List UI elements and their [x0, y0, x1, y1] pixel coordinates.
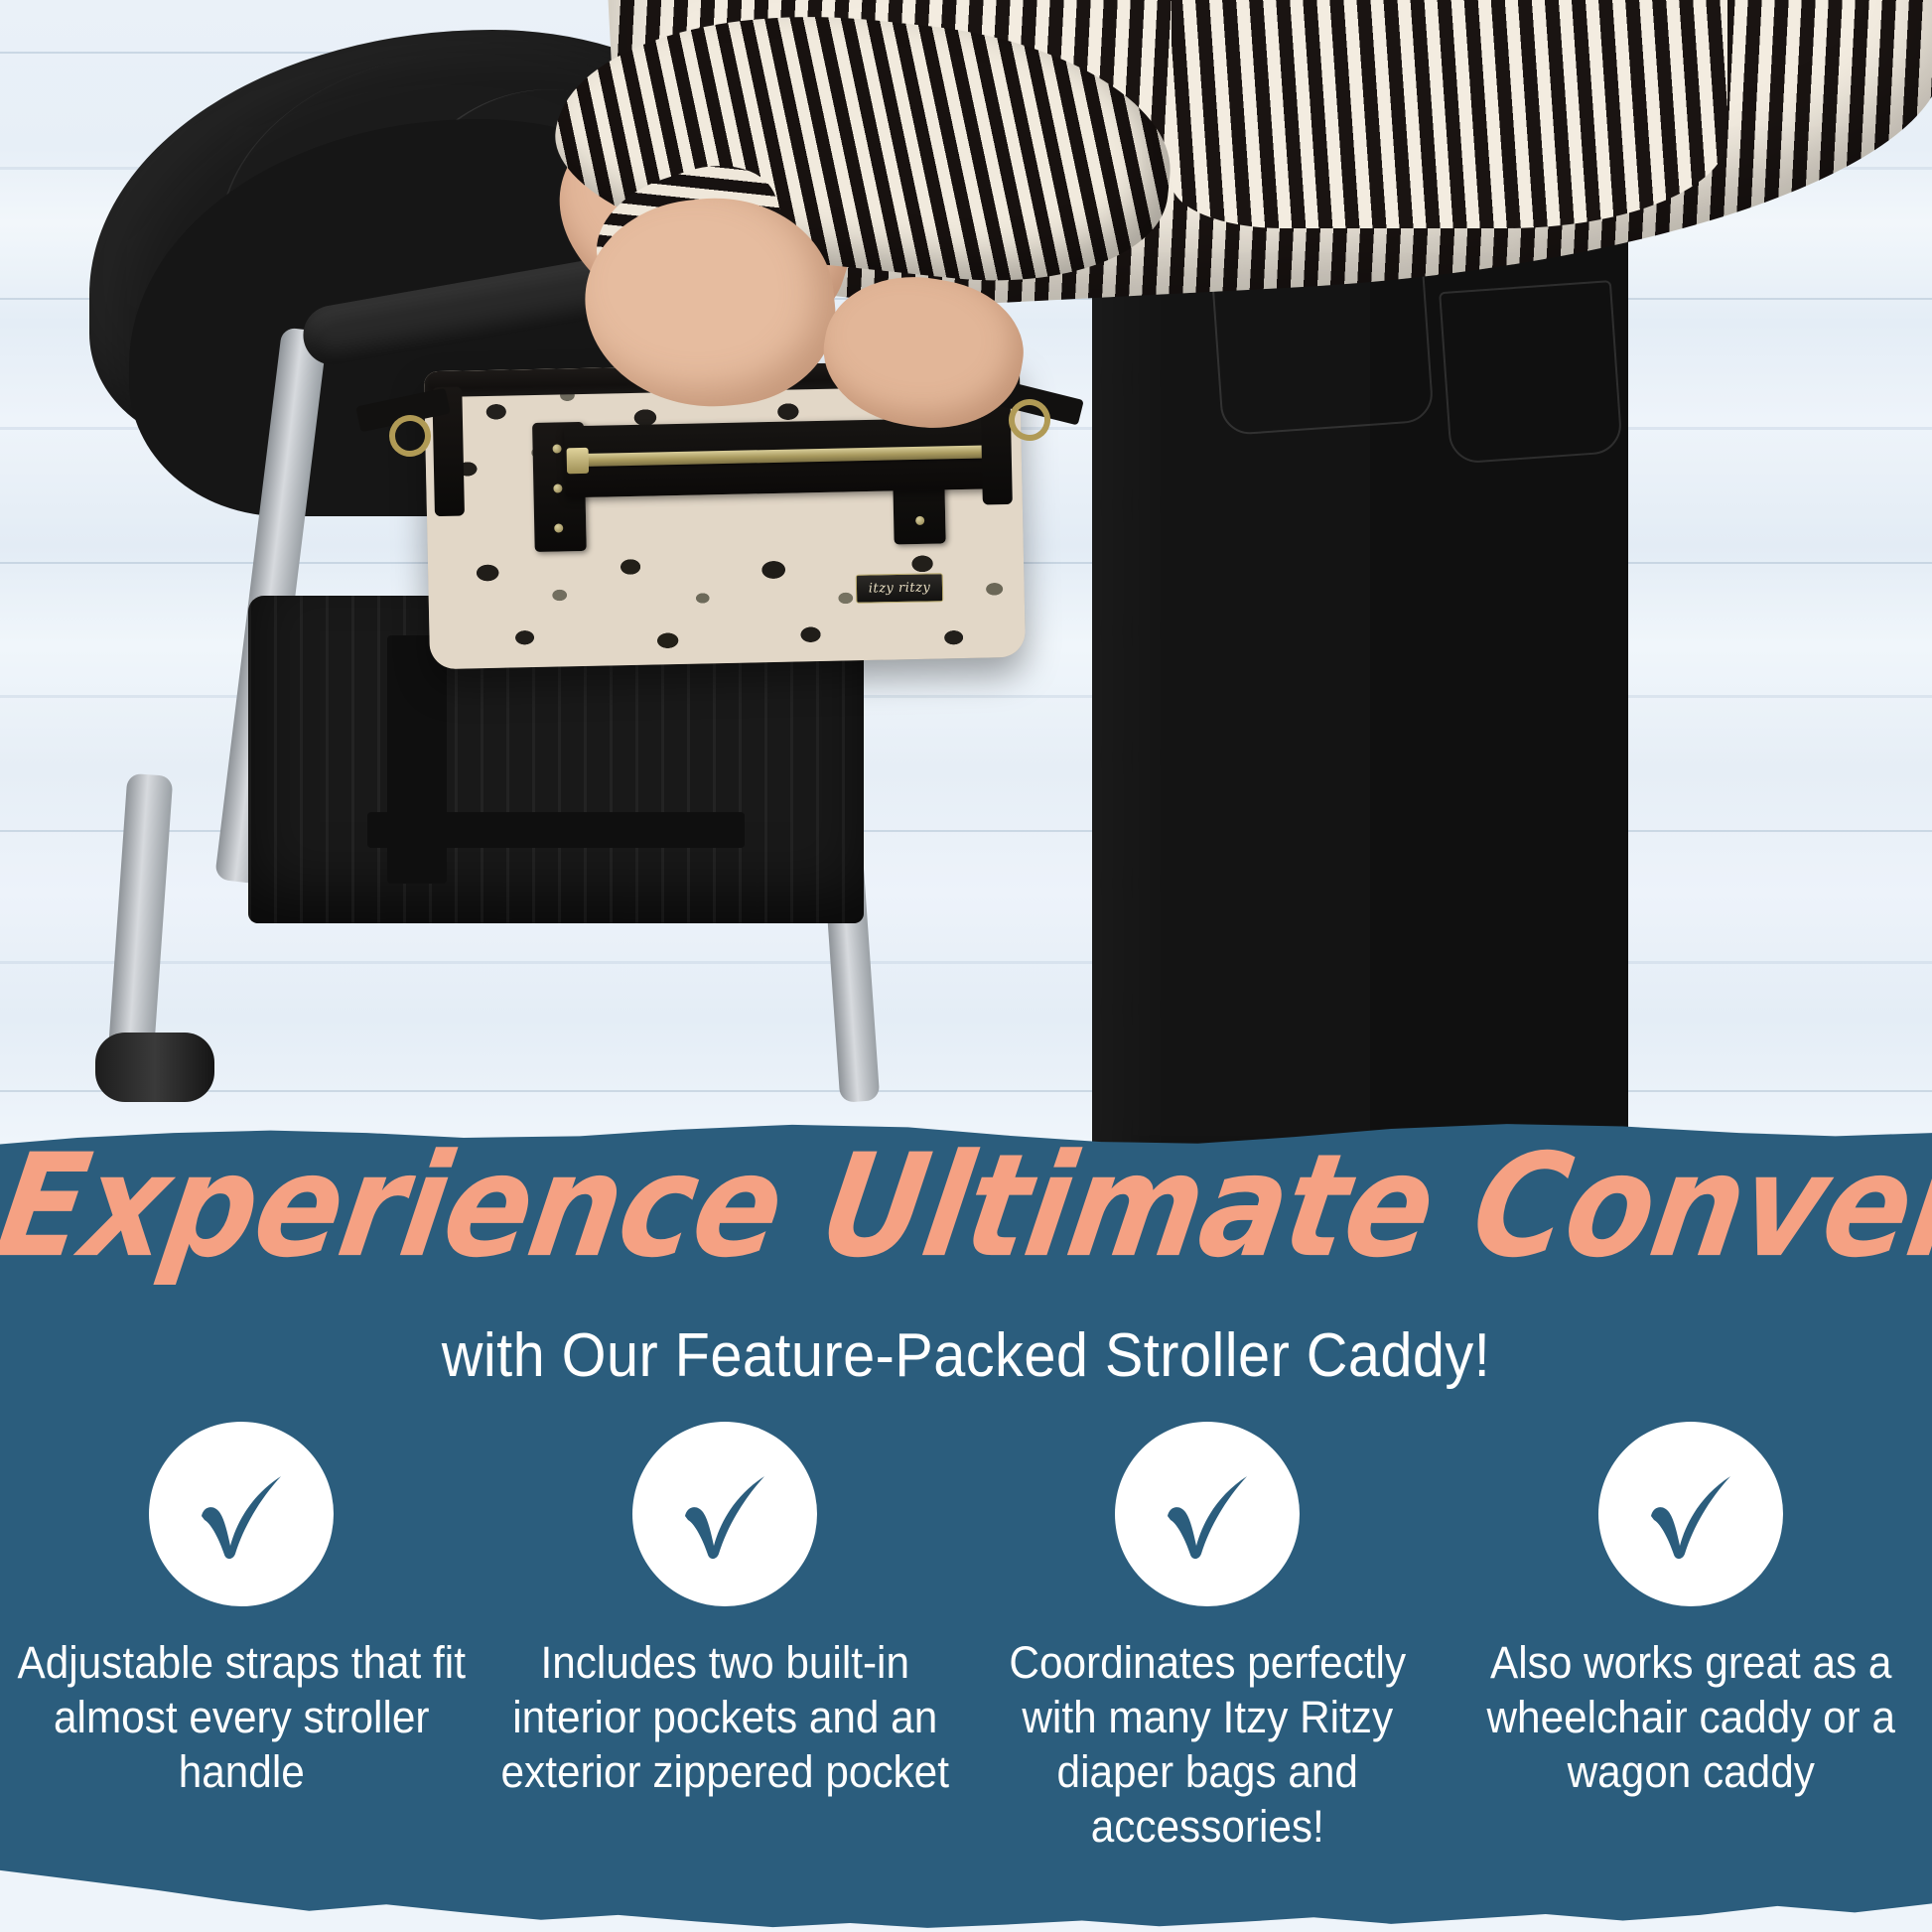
check-icon [1115, 1422, 1300, 1606]
wall-plank-seam [0, 961, 1932, 964]
stroller-wheel-mount [95, 1033, 214, 1102]
bag-rivet [915, 516, 924, 525]
brand-logo-plate: itzy ritzy [856, 573, 943, 604]
jeans-back-pocket [1439, 280, 1623, 465]
bag-rivet [553, 483, 562, 492]
stroller-frame-leg [107, 773, 174, 1073]
subheadline: with Our Feature-Packed Stroller Caddy! [68, 1320, 1864, 1391]
seat-strap [367, 812, 745, 848]
product-marketing-image: itzy ritzy Experience Ultimate Convenien… [0, 0, 1932, 1932]
headline: Experience Ultimate Convenience [0, 1136, 1932, 1278]
product-photo: itzy ritzy [0, 0, 1932, 1241]
feature-text: Adjustable straps that fit almost every … [15, 1636, 469, 1800]
bag-rivet [552, 444, 561, 453]
bag-rivet [554, 523, 563, 532]
check-icon [1598, 1422, 1783, 1606]
feature-item: Adjustable straps that fit almost every … [0, 1422, 483, 1855]
check-icon [632, 1422, 817, 1606]
feature-item: Coordinates perfectly with many Itzy Rit… [966, 1422, 1449, 1855]
brand-logo-text: itzy ritzy [869, 580, 931, 596]
feature-text: Also works great as a wheelchair caddy o… [1463, 1636, 1917, 1800]
feature-list: Adjustable straps that fit almost every … [0, 1422, 1932, 1855]
striped-blouse-hem [1172, 0, 1727, 228]
feature-item: Includes two built-in interior pockets a… [483, 1422, 967, 1855]
wall-plank-seam [0, 1090, 1932, 1092]
feature-text: Includes two built-in interior pockets a… [497, 1636, 951, 1800]
feature-item: Also works great as a wheelchair caddy o… [1449, 1422, 1932, 1855]
check-icon [149, 1422, 334, 1606]
feature-text: Coordinates perfectly with many Itzy Rit… [981, 1636, 1435, 1855]
zipper-pull [567, 448, 590, 474]
